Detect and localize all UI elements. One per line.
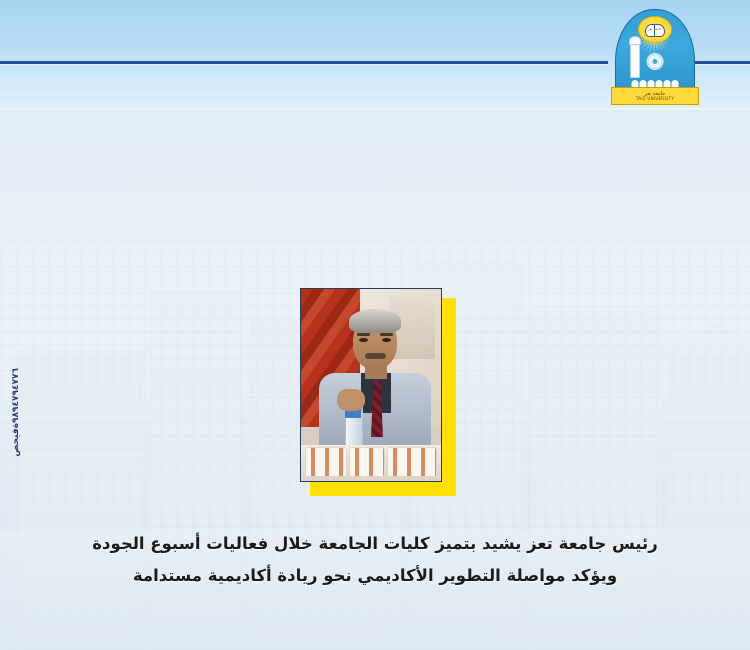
watermark-building	[150, 290, 242, 650]
header-rule-left	[0, 61, 608, 64]
photo-hair	[349, 309, 401, 333]
logo-name-banner: جامعة تعز TAIZ UNIVERSITY	[611, 87, 699, 105]
photo-table-item	[387, 447, 437, 477]
watermark-building	[20, 350, 142, 650]
photo-hand	[337, 389, 365, 411]
headline-line-1: رئيس جامعة تعز يشيد بتميز كليات الجامعة …	[0, 528, 750, 560]
photo-mustache	[365, 353, 386, 359]
arches-icon	[632, 80, 679, 87]
photo-eyebrow	[380, 333, 393, 336]
minaret-icon	[630, 42, 640, 78]
photo-table-item	[349, 447, 385, 477]
header-rule-right	[690, 61, 750, 64]
logo-dome-shape: جامعة تعز	[615, 9, 695, 93]
photo-eye	[382, 338, 391, 342]
news-card-page: جامعة تعز جامعة تعز TAIZ UNIVERSITY ٩٨٩٤…	[0, 0, 750, 650]
headline: رئيس جامعة تعز يشيد بتميز كليات الجامعة …	[0, 528, 750, 592]
logo-banner-english: TAIZ UNIVERSITY	[636, 97, 674, 101]
gear-emblem-icon	[648, 54, 663, 69]
header-band: جامعة تعز جامعة تعز TAIZ UNIVERSITY	[0, 0, 750, 108]
photo-table-item	[305, 447, 347, 477]
portrait-figure	[300, 288, 450, 496]
watermark-building	[668, 350, 750, 650]
side-watermark-text: ٩٨٩٤٧٩٤٧٧٦ةفيحص	[11, 368, 21, 457]
portrait-photo	[300, 288, 442, 482]
seal-caption: جامعة تعز	[648, 27, 662, 31]
photo-eyebrow	[357, 333, 370, 336]
watermark-building	[530, 310, 662, 650]
taiz-university-logo[interactable]: جامعة تعز جامعة تعز TAIZ UNIVERSITY	[611, 9, 697, 105]
photo-eye	[359, 338, 368, 342]
headline-line-2: ويؤكد مواصلة التطوير الأكاديمي نحو ريادة…	[0, 560, 750, 592]
